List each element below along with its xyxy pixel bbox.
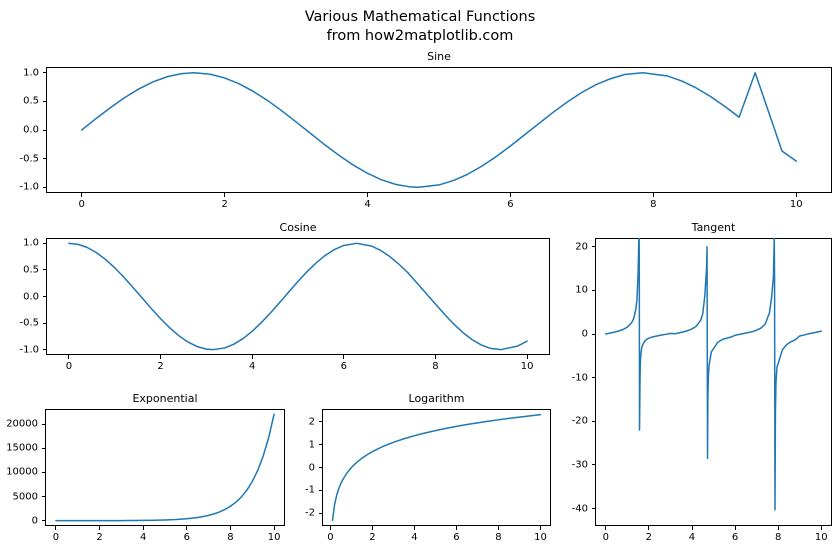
- y-tick-label: 2: [309, 416, 315, 427]
- y-tick-mark: [592, 421, 596, 422]
- x-tick-mark: [821, 526, 822, 530]
- y-tick-mark: [319, 513, 323, 514]
- x-tick-label: 6: [341, 361, 347, 372]
- y-tick-label: 1.0: [23, 238, 39, 249]
- x-tick-mark: [367, 193, 368, 197]
- x-tick-label: 2: [369, 532, 375, 543]
- x-tick-label: 10: [268, 532, 281, 543]
- plot-curve-sine: [46, 67, 832, 193]
- y-tick-mark: [592, 377, 596, 378]
- y-tick-label: 10: [575, 285, 588, 296]
- y-tick-mark: [43, 130, 47, 131]
- y-tick-mark: [592, 334, 596, 335]
- y-tick-label: -1: [305, 485, 315, 496]
- x-tick-mark: [456, 526, 457, 530]
- subplot-title: Cosine: [46, 221, 550, 234]
- x-tick-label: 2: [157, 361, 163, 372]
- x-tick-label: 8: [432, 361, 438, 372]
- y-tick-label: -20: [572, 416, 588, 427]
- x-tick-mark: [99, 526, 100, 530]
- x-tick-label: 2: [96, 532, 102, 543]
- plot-curve-tangent: [595, 238, 832, 526]
- y-tick-mark: [592, 290, 596, 291]
- y-tick-label: 0.5: [23, 264, 39, 275]
- subplot-title: Sine: [46, 50, 832, 63]
- y-tick-label: -0.5: [19, 318, 39, 329]
- x-tick-label: 6: [507, 199, 513, 210]
- x-tick-mark: [435, 355, 436, 359]
- y-tick-mark: [319, 467, 323, 468]
- subplot-title: Tangent: [595, 221, 832, 234]
- x-tick-mark: [224, 193, 225, 197]
- y-tick-label: 0: [32, 515, 38, 526]
- x-tick-label: 8: [775, 532, 781, 543]
- x-tick-label: 6: [184, 532, 190, 543]
- y-tick-label: -2: [305, 508, 315, 519]
- x-tick-mark: [778, 526, 779, 530]
- y-tick-mark: [43, 323, 47, 324]
- y-tick-label: 0.0: [23, 125, 39, 136]
- y-tick-label: -0.5: [19, 153, 39, 164]
- x-tick-mark: [330, 526, 331, 530]
- y-tick-mark: [319, 421, 323, 422]
- y-tick-label: -30: [572, 459, 588, 470]
- x-tick-mark: [143, 526, 144, 530]
- axes-logarithm: Logarithm-2-10120246810: [322, 409, 551, 526]
- figure-suptitle: Various Mathematical Functions from how2…: [0, 8, 840, 46]
- y-tick-label: 1.0: [23, 67, 39, 78]
- x-tick-mark: [160, 355, 161, 359]
- x-tick-mark: [414, 526, 415, 530]
- y-tick-mark: [43, 243, 47, 244]
- y-tick-mark: [42, 448, 46, 449]
- x-tick-mark: [186, 526, 187, 530]
- y-tick-label: -1.0: [19, 344, 39, 355]
- x-tick-label: 10: [521, 361, 534, 372]
- y-tick-mark: [42, 496, 46, 497]
- x-tick-label: 4: [411, 532, 417, 543]
- x-tick-label: 4: [364, 199, 370, 210]
- y-tick-label: 5000: [13, 491, 38, 502]
- y-tick-mark: [42, 472, 46, 473]
- y-tick-label: -40: [572, 503, 588, 514]
- x-tick-mark: [81, 193, 82, 197]
- x-tick-label: 10: [534, 532, 547, 543]
- y-tick-label: 10000: [6, 467, 38, 478]
- x-tick-mark: [692, 526, 693, 530]
- y-tick-mark: [42, 424, 46, 425]
- x-tick-label: 0: [327, 532, 333, 543]
- y-tick-label: 1: [309, 439, 315, 450]
- x-tick-label: 0: [603, 532, 609, 543]
- x-tick-label: 0: [79, 199, 85, 210]
- x-tick-label: 2: [646, 532, 652, 543]
- x-tick-mark: [653, 193, 654, 197]
- y-tick-label: 15000: [6, 443, 38, 454]
- subplot-title: Logarithm: [322, 392, 551, 405]
- y-tick-mark: [592, 464, 596, 465]
- y-tick-label: -1.0: [19, 182, 39, 193]
- x-tick-label: 6: [453, 532, 459, 543]
- x-tick-mark: [735, 526, 736, 530]
- x-tick-label: 0: [53, 532, 59, 543]
- axes-tangent: Tangent-40-30-20-10010200246810: [595, 238, 832, 526]
- x-tick-label: 4: [249, 361, 255, 372]
- y-tick-mark: [592, 246, 596, 247]
- x-tick-mark: [605, 526, 606, 530]
- x-tick-mark: [343, 355, 344, 359]
- x-tick-mark: [540, 526, 541, 530]
- x-tick-mark: [68, 355, 69, 359]
- y-tick-mark: [592, 508, 596, 509]
- x-tick-mark: [274, 526, 275, 530]
- y-tick-mark: [43, 269, 47, 270]
- subplot-title: Exponential: [45, 392, 285, 405]
- x-tick-mark: [796, 193, 797, 197]
- x-tick-mark: [230, 526, 231, 530]
- x-tick-mark: [510, 193, 511, 197]
- x-tick-label: 0: [66, 361, 72, 372]
- x-tick-label: 8: [495, 532, 501, 543]
- y-tick-mark: [43, 158, 47, 159]
- y-tick-mark: [43, 101, 47, 102]
- y-tick-label: 0.5: [23, 96, 39, 107]
- x-tick-label: 8: [227, 532, 233, 543]
- plot-curve-cosine: [46, 238, 550, 355]
- x-tick-label: 10: [790, 199, 803, 210]
- plot-curve-logarithm: [322, 409, 551, 526]
- x-tick-mark: [648, 526, 649, 530]
- y-tick-label: 0.0: [23, 291, 39, 302]
- y-tick-mark: [42, 520, 46, 521]
- x-tick-label: 10: [815, 532, 828, 543]
- y-tick-label: 0: [309, 462, 315, 473]
- y-tick-label: 0: [582, 329, 588, 340]
- y-tick-mark: [43, 296, 47, 297]
- axes-exponential: Exponential050001000015000200000246810: [45, 409, 285, 526]
- axes-cosine: Cosine-1.0-0.50.00.51.00246810: [46, 238, 550, 355]
- y-tick-mark: [43, 72, 47, 73]
- y-tick-label: -10: [572, 372, 588, 383]
- x-tick-label: 4: [140, 532, 146, 543]
- matplotlib-figure: Various Mathematical Functions from how2…: [0, 0, 840, 560]
- y-tick-mark: [319, 490, 323, 491]
- x-tick-mark: [252, 355, 253, 359]
- x-tick-label: 4: [689, 532, 695, 543]
- x-tick-mark: [55, 526, 56, 530]
- y-tick-mark: [43, 349, 47, 350]
- plot-curve-exponential: [45, 409, 285, 526]
- x-tick-label: 6: [732, 532, 738, 543]
- x-tick-label: 2: [221, 199, 227, 210]
- y-tick-label: 20: [575, 241, 588, 252]
- y-tick-mark: [43, 187, 47, 188]
- x-tick-mark: [498, 526, 499, 530]
- x-tick-label: 8: [650, 199, 656, 210]
- y-tick-mark: [319, 444, 323, 445]
- axes-sine: Sine-1.0-0.50.00.51.00246810: [46, 67, 832, 193]
- x-tick-mark: [527, 355, 528, 359]
- x-tick-mark: [372, 526, 373, 530]
- y-tick-label: 20000: [6, 418, 38, 429]
